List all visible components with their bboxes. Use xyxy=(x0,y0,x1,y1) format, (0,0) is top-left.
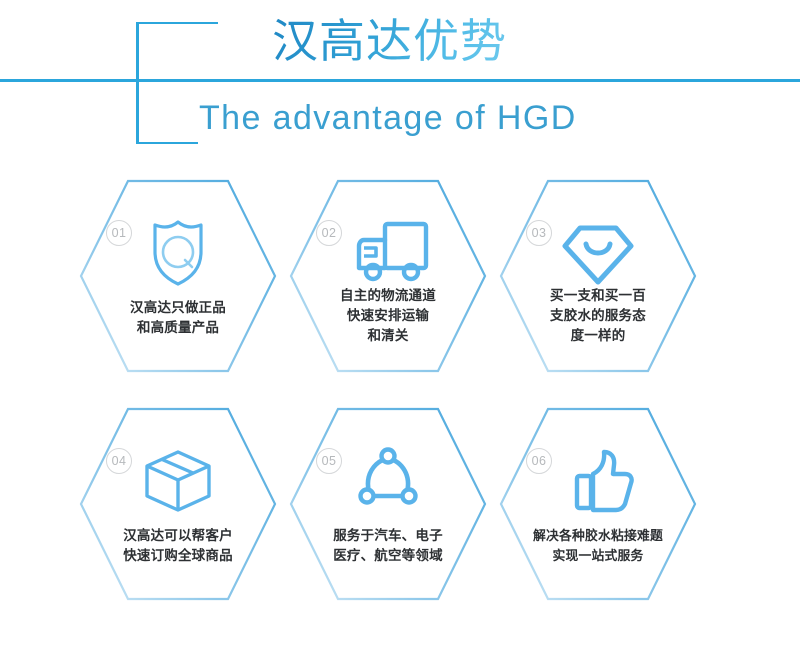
card-content: 03 买一支和买一百支胶水的服务态度一样的 xyxy=(498,178,698,374)
card-caption-line: 买一支和买一百 xyxy=(506,286,690,306)
diamond-smile-icon xyxy=(555,216,641,290)
advantage-card-03[interactable]: 03 买一支和买一百支胶水的服务态度一样的 xyxy=(498,178,698,374)
advantage-card-05[interactable]: 05 服务于汽车、电子医疗、航空等领域 xyxy=(288,406,488,602)
card-caption-line: 解决各种胶水粘接难题 xyxy=(500,526,696,546)
card-content: 05 服务于汽车、电子医疗、航空等领域 xyxy=(288,406,488,602)
shield-quality-icon xyxy=(135,216,221,290)
advantage-card-01[interactable]: 01 汉高达只做正品和高质量产品 xyxy=(78,178,278,374)
card-caption: 解决各种胶水粘接难题实现一站式服务 xyxy=(500,526,696,566)
card-caption-line: 汉高达只做正品 xyxy=(86,298,270,318)
card-number-badge: 06 xyxy=(526,448,552,474)
advantage-card-02[interactable]: 02 自主的物流通道快速安排运输和清关 xyxy=(288,178,488,374)
package-box-icon xyxy=(135,444,221,518)
card-caption-line: 医疗、航空等领域 xyxy=(296,546,480,566)
bracket-decoration-top xyxy=(136,22,218,24)
card-caption-line: 实现一站式服务 xyxy=(500,546,696,566)
card-caption-line: 汉高达可以帮客户 xyxy=(86,526,270,546)
card-number-badge: 01 xyxy=(106,220,132,246)
card-content: 06 解决各种胶水粘接难题实现一站式服务 xyxy=(498,406,698,602)
card-caption-line: 服务于汽车、电子 xyxy=(296,526,480,546)
card-caption: 汉高达只做正品和高质量产品 xyxy=(86,298,270,338)
card-caption-line: 快速订购全球商品 xyxy=(86,546,270,566)
card-content: 01 汉高达只做正品和高质量产品 xyxy=(78,178,278,374)
card-caption-line: 支胶水的服务态 xyxy=(506,306,690,326)
page-title-en: The advantage of HGD xyxy=(199,96,577,140)
card-caption-line: 和清关 xyxy=(296,326,480,346)
thumbs-up-icon xyxy=(555,444,641,518)
advantage-card-04[interactable]: 04 汉高达可以帮客户快速订购全球商品 xyxy=(78,406,278,602)
card-caption: 买一支和买一百支胶水的服务态度一样的 xyxy=(506,286,690,346)
card-number-badge: 03 xyxy=(526,220,552,246)
header-divider-line xyxy=(0,79,800,82)
advantage-card-06[interactable]: 06 解决各种胶水粘接难题实现一站式服务 xyxy=(498,406,698,602)
card-number-badge: 05 xyxy=(316,448,342,474)
card-caption-line: 和高质量产品 xyxy=(86,318,270,338)
advantage-infographic-page: 汉高达优势 The advantage of HGD 01 汉高达只做正品和高质… xyxy=(0,0,800,649)
card-caption: 汉高达可以帮客户快速订购全球商品 xyxy=(86,526,270,566)
card-content: 04 汉高达可以帮客户快速订购全球商品 xyxy=(78,406,278,602)
card-caption-line: 度一样的 xyxy=(506,326,690,346)
page-title-cn: 汉高达优势 xyxy=(272,12,507,70)
card-caption: 服务于汽车、电子医疗、航空等领域 xyxy=(296,526,480,566)
bracket-decoration-bottom xyxy=(136,142,198,144)
card-caption-line: 快速安排运输 xyxy=(296,306,480,326)
card-content: 02 自主的物流通道快速安排运输和清关 xyxy=(288,178,488,374)
delivery-truck-icon xyxy=(345,216,431,290)
card-number-badge: 04 xyxy=(106,448,132,474)
bracket-decoration-vertical xyxy=(136,22,139,144)
card-caption: 自主的物流通道快速安排运输和清关 xyxy=(296,286,480,346)
card-number-badge: 02 xyxy=(316,220,342,246)
card-caption-line: 自主的物流通道 xyxy=(296,286,480,306)
page-header: 汉高达优势 The advantage of HGD xyxy=(0,0,800,160)
advantage-card-grid: 01 汉高达只做正品和高质量产品 02 xyxy=(0,168,800,628)
network-share-icon xyxy=(345,444,431,518)
